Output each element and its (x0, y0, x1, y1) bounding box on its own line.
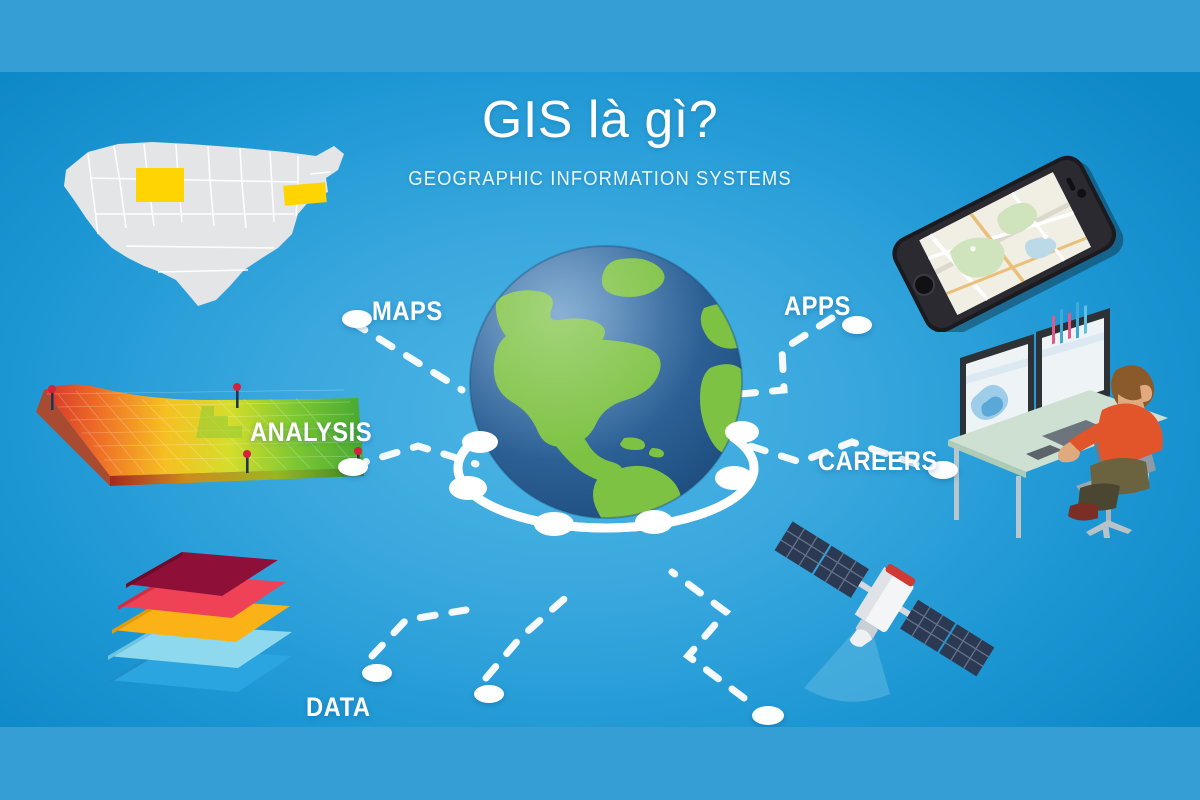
highlighted-state-pennsylvania (283, 182, 327, 206)
node-dot-data[interactable] (362, 664, 392, 682)
link-software (486, 592, 572, 678)
node-label-apps[interactable]: APPS (784, 291, 851, 322)
link-satellites (672, 572, 744, 698)
infographic-canvas: GIS là gì? GEOGRAPHIC INFORMATION SYSTEM… (0, 0, 1200, 800)
node-dot-software[interactable] (474, 685, 504, 703)
highlighted-state-wyoming (136, 168, 184, 202)
node-label-careers[interactable]: CAREERS (818, 446, 938, 477)
link-data (372, 610, 466, 656)
united-states-map (48, 130, 358, 320)
solar-panel-right (900, 600, 994, 677)
node-dot-satellites[interactable] (752, 706, 784, 725)
orbit-connection-nodes (449, 421, 759, 536)
node-label-analysis[interactable]: ANALYSIS (250, 417, 372, 448)
letterbox-band-bottom (0, 727, 1200, 800)
node-dot-analysis[interactable] (338, 458, 368, 476)
node-label-data[interactable]: DATA (306, 692, 371, 723)
node-dot-maps[interactable] (342, 310, 372, 328)
diagram-body: GIS là gì? GEOGRAPHIC INFORMATION SYSTEM… (0, 72, 1200, 727)
globe-orbit-ring-front (446, 236, 766, 566)
letterbox-band-top (0, 0, 1200, 72)
orbital-satellite (760, 498, 1010, 708)
solar-panel-left (775, 521, 869, 598)
us-landmass (64, 142, 344, 306)
chair-base (1086, 520, 1132, 538)
map-layer-stack (100, 544, 300, 704)
node-label-maps[interactable]: MAPS (372, 296, 443, 327)
